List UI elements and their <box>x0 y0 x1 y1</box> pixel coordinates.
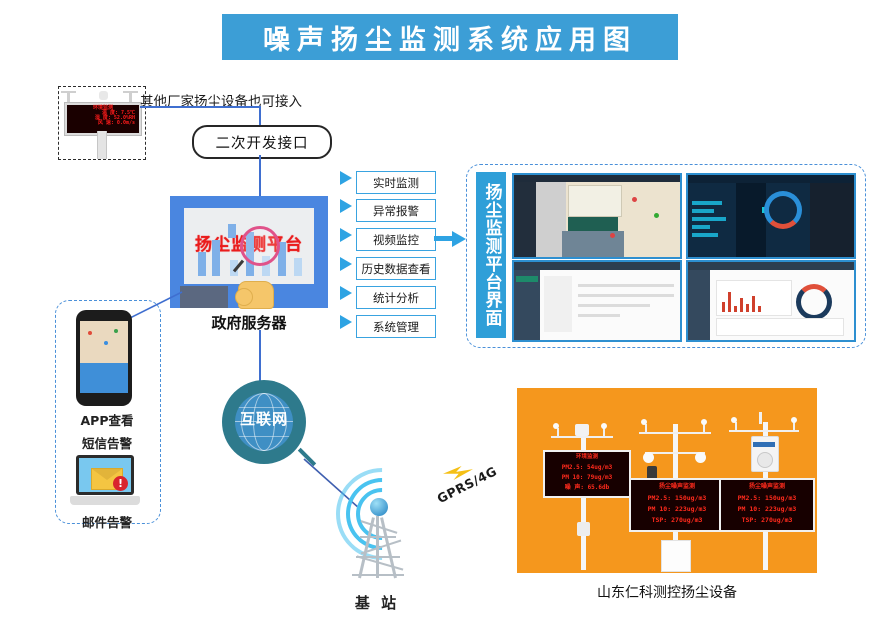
thumb-statistics-charts-screen[interactable] <box>686 260 856 342</box>
led-center-3: TSP: 270ug/m3 <box>631 517 723 524</box>
app-label: APP查看 <box>55 410 159 429</box>
function-label-4: 统计分析 <box>373 290 419 306</box>
phone-map-area <box>80 321 128 363</box>
phone-list-area <box>80 363 128 393</box>
keyboard-shape <box>180 286 228 308</box>
alert-badge-icon: ! <box>113 476 128 491</box>
led-left-1: PM2.5: 54ug/m3 <box>545 465 629 471</box>
field-device-right-led-board: 扬尘噪声监测 PM2.5: 150ug/m3 PM 10: 223ug/m3 T… <box>719 478 815 532</box>
function-label-5: 系统管理 <box>373 319 419 335</box>
function-label-0: 实时监测 <box>373 175 419 191</box>
network-type-label: GPRS/4G <box>435 463 500 506</box>
function-label-3: 历史数据查看 <box>362 261 431 277</box>
base-station-tower <box>322 470 432 580</box>
field-devices-caption: 山东仁科测控扬尘设备 <box>517 582 817 602</box>
sms-label: 短信告警 <box>55 433 159 452</box>
field-device-right: 扬尘噪声监测 PM2.5: 150ug/m3 PM 10: 223ug/m3 T… <box>717 406 813 570</box>
thumb-dark-dashboard-screen[interactable] <box>686 173 856 259</box>
laptop-screen-inner: ! <box>79 458 131 492</box>
third-party-device: 环境监测 温 度: 7.5℃ 湿 度: 52.0%RH 风 速: 0.0m/s <box>58 86 146 160</box>
function-box-realtime[interactable]: 实时监测 <box>356 171 436 194</box>
laptop-screen: ! <box>76 455 134 495</box>
platform-ui-label-text: 扬尘监测平台界面 <box>483 183 500 327</box>
led-right-3: TSP: 270ug/m3 <box>721 517 813 524</box>
led-line-3: 风 速: 0.0m/s <box>67 121 139 126</box>
field-device-left: 环境监测 PM2.5: 54ug/m3 PM 10: 79ug/m3 噪 声: … <box>537 410 629 570</box>
led-left-0: 环境监测 <box>545 455 629 461</box>
function-box-alarm[interactable]: 异常报警 <box>356 199 436 222</box>
laptop-base <box>70 496 140 505</box>
function-box-system[interactable]: 系统管理 <box>356 315 436 338</box>
led-right-1: PM2.5: 150ug/m3 <box>721 495 813 502</box>
page-title: 噪声扬尘监测系统应用图 <box>263 18 637 57</box>
thumb-map-monitor-screen[interactable] <box>512 173 682 259</box>
fn-arrow-5 <box>340 315 352 329</box>
led-left-3: 噪 声: 65.6db <box>545 485 629 491</box>
connector-server-to-internet <box>259 330 261 382</box>
connector-note-line <box>140 106 260 108</box>
platform-ui-vertical-label: 扬尘监测平台界面 <box>476 172 506 338</box>
function-label-2: 视频监控 <box>373 232 419 248</box>
led-right-0: 扬尘噪声监测 <box>721 484 813 490</box>
led-left-2: PM 10: 79ug/m3 <box>545 475 629 481</box>
server-caption: 政府服务器 <box>170 312 328 333</box>
field-device-center-led-board: 扬尘噪声监测 PM2.5: 150ug/m3 PM 10: 223ug/m3 T… <box>629 478 725 532</box>
government-server-monitor: 扬尘监测平台 <box>170 196 328 308</box>
function-box-video[interactable]: 视频监控 <box>356 228 436 251</box>
phone-screen <box>80 321 128 393</box>
ui-panel-arrow <box>452 231 466 247</box>
function-box-history[interactable]: 历史数据查看 <box>356 257 436 280</box>
server-screen: 扬尘监测平台 <box>184 208 314 284</box>
internet-label: 互联网 <box>222 408 306 429</box>
fn-arrow-3 <box>340 257 352 271</box>
connector-note-to-api <box>259 106 261 126</box>
led-center-1: PM2.5: 150ug/m3 <box>631 495 723 502</box>
hand-icon <box>238 281 274 309</box>
field-device-center: 扬尘噪声监测 PM2.5: 150ug/m3 PM 10: 223ug/m3 T… <box>623 410 727 570</box>
thumb-device-list-screen[interactable] <box>512 260 682 342</box>
led-right-2: PM 10: 223ug/m3 <box>721 506 813 513</box>
api-box-label: 二次开发接口 <box>216 132 309 153</box>
mail-label: 邮件告警 <box>55 512 159 531</box>
fn-arrow-2 <box>340 228 352 242</box>
mobile-phone[interactable] <box>76 310 132 406</box>
field-device-left-led-board: 环境监测 PM2.5: 54ug/m3 PM 10: 79ug/m3 噪 声: … <box>543 450 631 498</box>
function-box-statistics[interactable]: 统计分析 <box>356 286 436 309</box>
led-center-0: 扬尘噪声监测 <box>631 484 723 490</box>
fn-arrow-4 <box>340 286 352 300</box>
laptop[interactable]: ! <box>70 455 140 511</box>
api-box[interactable]: 二次开发接口 <box>192 125 332 159</box>
page-title-banner: 噪声扬尘监测系统应用图 <box>222 14 678 60</box>
base-station-label: 基 站 <box>322 592 432 613</box>
magnifier-icon <box>240 226 280 266</box>
fn-arrow-1 <box>340 199 352 213</box>
connector-api-to-server <box>259 155 261 197</box>
fn-arrow-0 <box>340 171 352 185</box>
field-devices-panel: 环境监测 PM2.5: 54ug/m3 PM 10: 79ug/m3 噪 声: … <box>517 388 817 573</box>
function-label-1: 异常报警 <box>373 203 419 219</box>
antenna-ball-icon <box>370 498 388 516</box>
led-center-2: PM 10: 223ug/m3 <box>631 506 723 513</box>
